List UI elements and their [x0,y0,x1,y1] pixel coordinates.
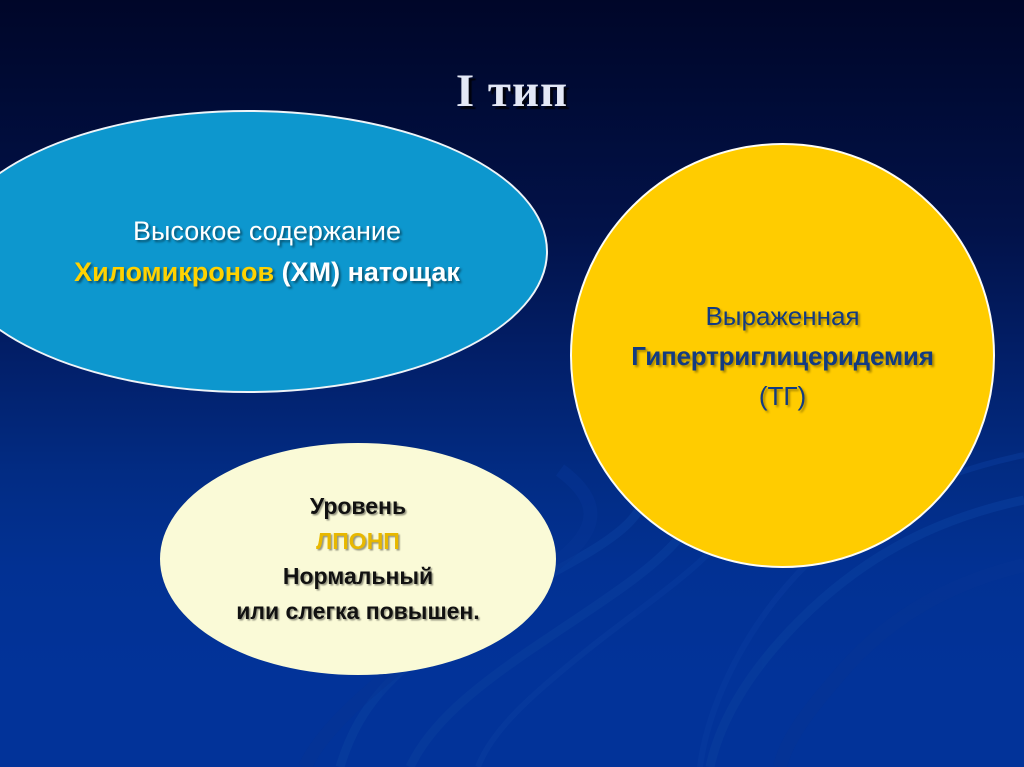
slide-canvas: I тип Высокое содержание Хиломикронов (Х… [0,0,1024,767]
shape-cream-ellipse[interactable]: Уровень ЛПОНП Нормальный или слегка повы… [160,443,556,675]
shape-blue-ellipse[interactable]: Высокое содержание Хиломикронов (ХМ) нат… [0,110,548,393]
slide-title: I тип [0,64,1024,118]
blue-ellipse-line-1: Высокое содержание [95,211,401,252]
blue-ellipse-line-2: Хиломикронов (ХМ) натощак [36,252,460,293]
cream-ellipse-highlight-term: ЛПОНП [316,528,400,554]
blue-ellipse-line-2-rest: (ХМ) натощак [274,257,460,287]
yellow-circle-line-3: (ТГ) [759,376,806,416]
shape-yellow-circle[interactable]: Выраженная Гипертриглицеридемия (ТГ) [570,143,995,568]
cream-ellipse-line-1: Уровень [310,489,406,524]
cream-ellipse-line-3: Нормальный [283,559,433,594]
yellow-circle-line-2: Гипертриглицеридемия [631,336,933,376]
cream-ellipse-line-2: ЛПОНП [316,524,400,559]
blue-ellipse-highlight-term: Хиломикронов [74,257,274,287]
yellow-circle-line-1: Выраженная [705,296,859,336]
cream-ellipse-line-4: или слегка повышен. [236,594,479,629]
